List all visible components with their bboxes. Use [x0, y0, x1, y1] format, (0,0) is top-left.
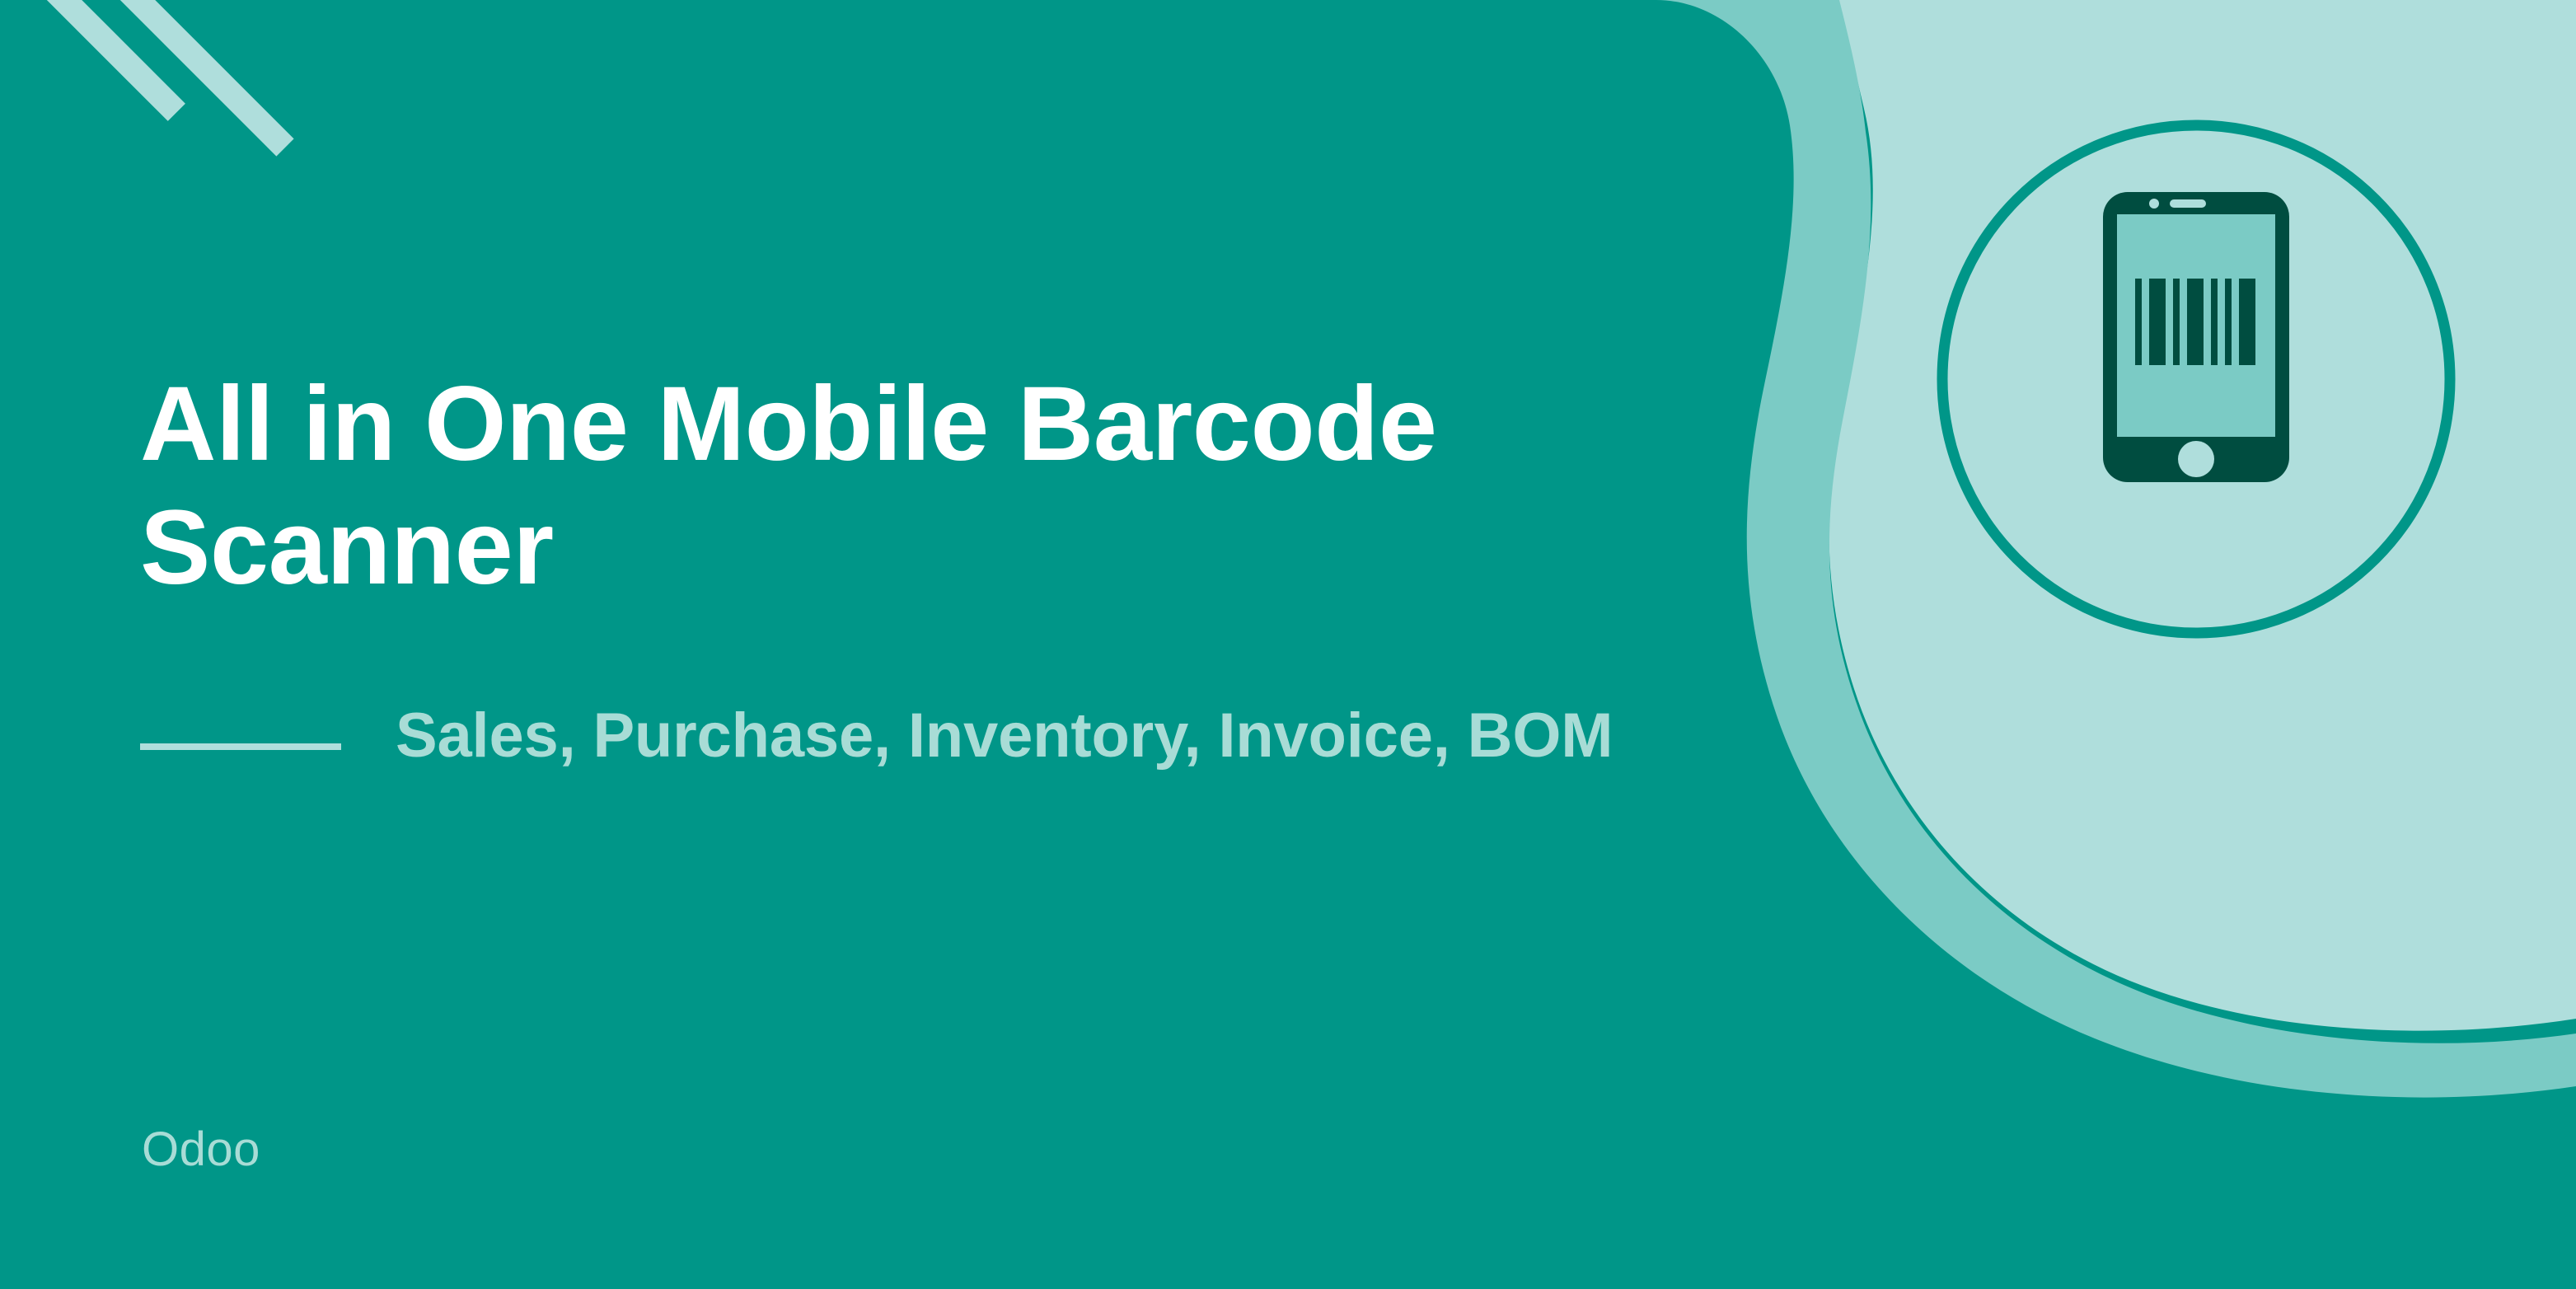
brand-label: Odoo: [142, 1126, 260, 1174]
slide-subtitle: Sales, Purchase, Inventory, Invoice, BOM: [341, 696, 1706, 775]
phone-home-button: [2178, 441, 2214, 477]
slide-text-content: All in One Mobile Barcode Scanner Sales,…: [140, 0, 1755, 1289]
phone-camera-icon: [2149, 199, 2159, 209]
subtitle-dash-decoration: [140, 743, 341, 750]
mobile-barcode-icon: [1932, 115, 2460, 643]
slide-subtitle-row: Sales, Purchase, Inventory, Invoice, BOM: [140, 696, 1706, 775]
mobile-barcode-badge: [1932, 115, 2460, 643]
phone-speaker: [2170, 199, 2206, 208]
slide-title: All in One Mobile Barcode Scanner: [140, 363, 1731, 610]
presentation-slide: All in One Mobile Barcode Scanner Sales,…: [0, 0, 2576, 1289]
